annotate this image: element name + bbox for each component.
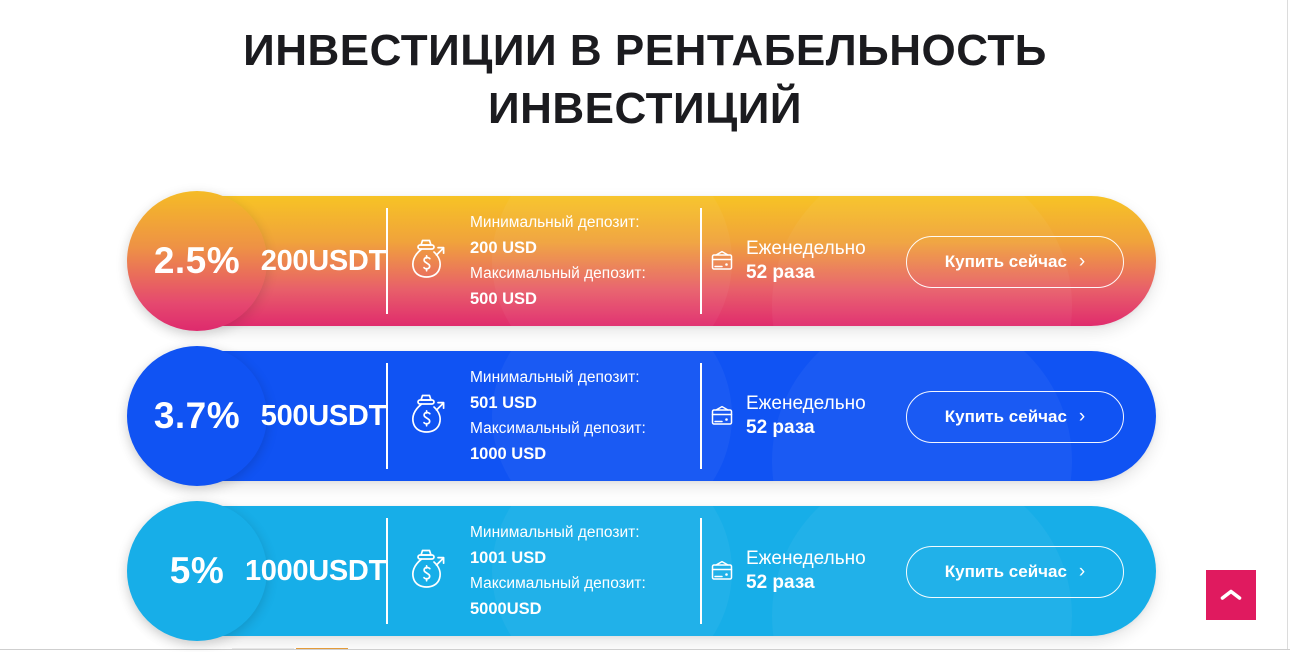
deposit-lines: Минимальный депозит: 200 USD Максимальны… — [470, 214, 646, 309]
frequency-lines: Еженедельно 52 раза — [746, 238, 866, 284]
plans-list: 2.5% 200USDT Минимальный д — [132, 196, 1156, 652]
min-deposit-label: Минимальный депозит: — [470, 369, 646, 387]
deposit-info: Минимальный депозит: 200 USD Максимальны… — [408, 196, 646, 326]
frequency-period: Еженедельно — [746, 548, 866, 570]
scroll-to-top-button[interactable] — [1206, 570, 1256, 620]
plan-amount: 1000USDT — [260, 506, 386, 636]
plan-card[interactable]: 3.7% 500USDT Минимальный д — [132, 351, 1156, 481]
min-deposit-value: 200 USD — [470, 239, 646, 258]
column-divider — [386, 363, 388, 469]
column-divider — [386, 208, 388, 314]
buy-now-label: Купить сейчас — [945, 252, 1067, 272]
deposit-lines: Минимальный депозит: 1001 USD Максимальн… — [470, 524, 646, 619]
buy-now-label: Купить сейчас — [945, 562, 1067, 582]
max-deposit-value: 500 USD — [470, 290, 646, 309]
frequency-info: Еженедельно 52 раза — [710, 506, 866, 636]
min-deposit-label: Минимальный депозит: — [470, 524, 646, 542]
column-divider — [700, 363, 702, 469]
max-deposit-label: Максимальный депозит: — [470, 420, 646, 438]
rate-value: 5% — [170, 550, 224, 592]
column-divider — [700, 518, 702, 624]
chevron-right-icon: › — [1079, 562, 1085, 581]
frequency-lines: Еженедельно 52 раза — [746, 548, 866, 594]
frequency-info: Еженедельно 52 раза — [710, 351, 866, 481]
frequency-count: 52 раза — [746, 262, 866, 284]
plan-card[interactable]: 2.5% 200USDT Минимальный д — [132, 196, 1156, 326]
frequency-period: Еженедельно — [746, 393, 866, 415]
deposit-lines: Минимальный депозит: 501 USD Максимальны… — [470, 369, 646, 464]
deposit-info: Минимальный депозит: 1001 USD Максимальн… — [408, 506, 646, 636]
column-divider — [386, 518, 388, 624]
plan-amount: 500USDT — [260, 351, 386, 481]
column-divider — [700, 208, 702, 314]
max-deposit-value: 1000 USD — [470, 445, 646, 464]
frequency-period: Еженедельно — [746, 238, 866, 260]
frequency-lines: Еженедельно 52 раза — [746, 393, 866, 439]
max-deposit-label: Максимальный депозит: — [470, 575, 646, 593]
frequency-count: 52 раза — [746, 572, 866, 594]
buy-now-button[interactable]: Купить сейчас › — [906, 391, 1124, 443]
investment-plans-page: ИНВЕСТИЦИИ В РЕНТАБЕЛЬНОСТЬ ИНВЕСТИЦИЙ 2… — [0, 0, 1290, 652]
frequency-count: 52 раза — [746, 417, 866, 439]
max-deposit-value: 5000USD — [470, 600, 646, 619]
money-bag-growth-icon — [408, 236, 452, 287]
buy-now-button[interactable]: Купить сейчас › — [906, 546, 1124, 598]
deposit-info: Минимальный депозит: 501 USD Максимальны… — [408, 351, 646, 481]
buy-now-button[interactable]: Купить сейчас › — [906, 236, 1124, 288]
chevron-up-icon — [1220, 588, 1242, 602]
chevron-right-icon: › — [1079, 407, 1085, 426]
frequency-info: Еженедельно 52 раза — [710, 196, 866, 326]
min-deposit-value: 501 USD — [470, 394, 646, 413]
min-deposit-value: 1001 USD — [470, 549, 646, 568]
money-bag-growth-icon — [408, 546, 452, 597]
rate-value: 2.5% — [154, 240, 240, 282]
page-title: ИНВЕСТИЦИИ В РЕНТАБЕЛЬНОСТЬ ИНВЕСТИЦИЙ — [145, 22, 1145, 138]
chevron-right-icon: › — [1079, 252, 1085, 271]
min-deposit-label: Минимальный депозит: — [470, 214, 646, 232]
plan-card[interactable]: 5% 1000USDT Минимальный де — [132, 506, 1156, 636]
calendar-icon — [710, 249, 734, 278]
max-deposit-label: Максимальный депозит: — [470, 265, 646, 283]
money-bag-growth-icon — [408, 391, 452, 442]
calendar-icon — [710, 559, 734, 588]
plan-amount: 200USDT — [260, 196, 386, 326]
calendar-icon — [710, 404, 734, 433]
buy-now-label: Купить сейчас — [945, 407, 1067, 427]
rate-value: 3.7% — [154, 395, 240, 437]
rate-badge: 2.5% — [127, 191, 267, 331]
rate-badge: 3.7% — [127, 346, 267, 486]
